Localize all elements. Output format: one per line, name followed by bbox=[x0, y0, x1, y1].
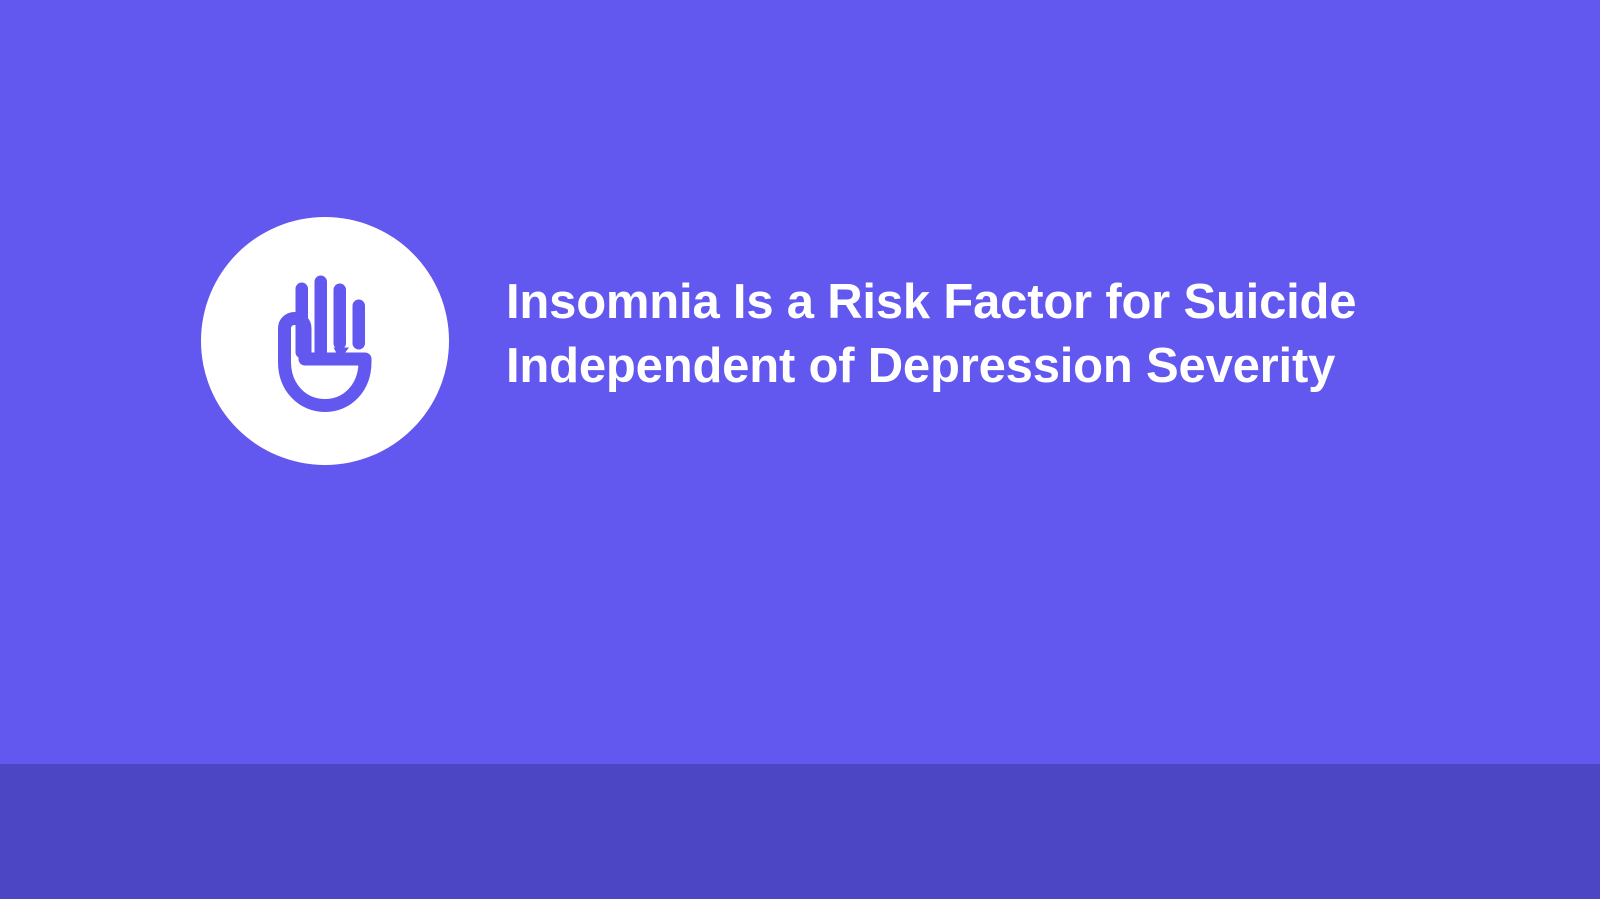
slide-canvas: Insomnia Is a Risk Factor for Suicide In… bbox=[0, 0, 1600, 899]
hero-icon-badge bbox=[201, 217, 449, 465]
hero-section: Insomnia Is a Risk Factor for Suicide In… bbox=[0, 0, 1600, 764]
page-title: Insomnia Is a Risk Factor for Suicide In… bbox=[506, 270, 1446, 398]
footer-band: McCall, W. V., Benca, R. M., Rosenquist,… bbox=[0, 764, 1600, 899]
